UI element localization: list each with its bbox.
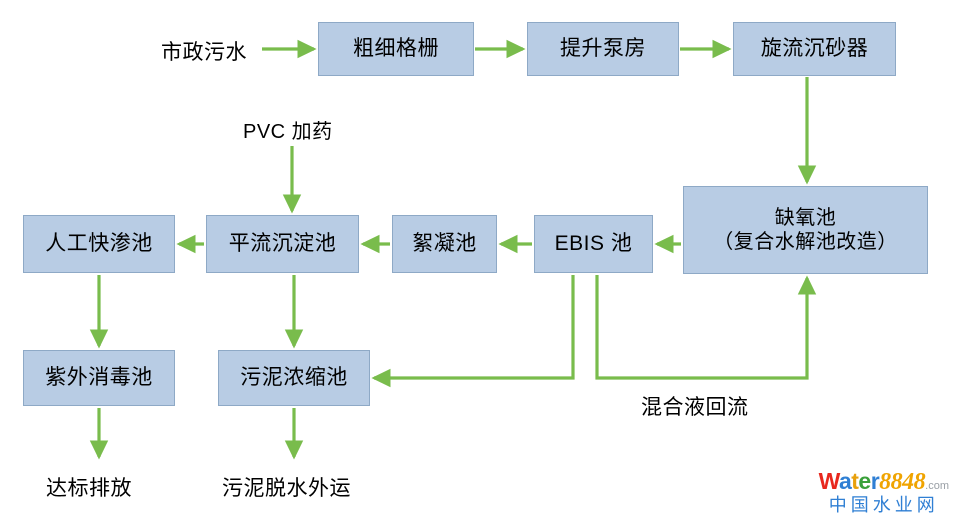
watermark-letter-a: a <box>839 468 851 494</box>
node-ebis-tank[interactable]: EBIS 池 <box>534 215 653 273</box>
node-lift-pump-house[interactable]: 提升泵房 <box>527 22 679 76</box>
edge-ebis-to-anoxic-return <box>597 275 807 378</box>
watermark-letter-w: W <box>819 468 839 494</box>
watermark-number: 8848 <box>879 469 925 495</box>
watermark-tld: .com <box>925 480 949 492</box>
site-watermark: Water8848.com 中国水业网 <box>819 469 949 515</box>
node-horizontal-flow-sedimentation-tank[interactable]: 平流沉淀池 <box>206 215 359 273</box>
watermark-letter-r: r <box>871 468 879 494</box>
node-coarse-fine-grille[interactable]: 粗细格栅 <box>318 22 474 76</box>
watermark-chinese-name: 中国水业网 <box>819 496 949 515</box>
node-uv-disinfection-tank[interactable]: 紫外消毒池 <box>23 350 175 406</box>
flowchart-canvas: 粗细格栅 提升泵房 旋流沉砂器 缺氧池 （复合水解池改造） EBIS 池 絮凝池… <box>0 0 955 519</box>
edge-ebis-to-sludge <box>374 275 573 378</box>
label-compliant-discharge: 达标排放 <box>46 472 132 502</box>
label-mixed-liquor-return: 混合液回流 <box>641 391 749 421</box>
label-pvc-dosing: PVC 加药 <box>243 115 333 144</box>
node-sludge-thickening-tank[interactable]: 污泥浓缩池 <box>218 350 370 406</box>
node-artificial-rapid-infiltration-tank[interactable]: 人工快渗池 <box>23 215 175 273</box>
watermark-brand: Water8848.com <box>819 469 949 495</box>
node-vortex-grit-chamber[interactable]: 旋流沉砂器 <box>733 22 896 76</box>
label-municipal-sewage-inflow: 市政污水 <box>161 36 247 66</box>
node-flocculation-tank[interactable]: 絮凝池 <box>392 215 497 273</box>
watermark-letter-e: e <box>858 468 870 494</box>
label-sludge-dewatering-transport: 污泥脱水外运 <box>222 472 351 502</box>
node-anoxic-tank[interactable]: 缺氧池 （复合水解池改造） <box>683 186 928 274</box>
